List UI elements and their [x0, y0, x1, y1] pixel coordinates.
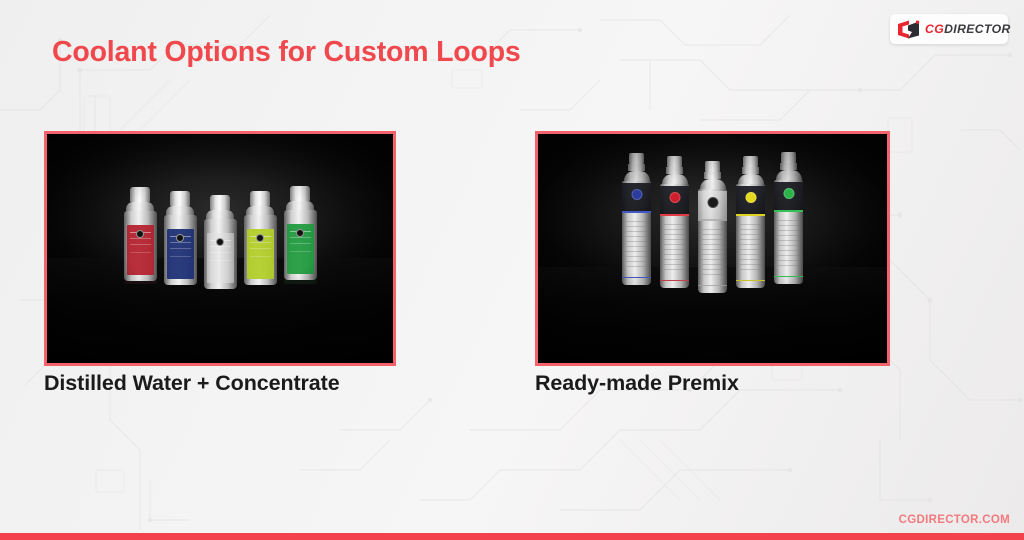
caption-concentrate: Distilled Water + Concentrate	[44, 371, 340, 396]
bottom-accent-bar	[0, 533, 1024, 540]
image-card-premix[interactable]	[535, 131, 890, 366]
bottle-concentrate-clear	[204, 195, 237, 289]
bottle-premix-yellow	[736, 156, 765, 288]
footer-watermark: CGDIRECTOR.COM	[899, 514, 1010, 526]
bottle-premix-blue	[622, 153, 651, 285]
bottle-concentrate-lime-green	[244, 191, 277, 285]
logo-text-director: DIRECTOR	[944, 22, 1011, 36]
bottle-concentrate-green	[284, 186, 317, 280]
slide: Coolant Options for Custom Loops CGDIREC…	[0, 0, 1024, 540]
photo-concentrate-bottles	[47, 134, 393, 363]
bottle-concentrate-red	[124, 187, 157, 281]
logo-text-cg: CG	[925, 22, 944, 36]
image-card-concentrate[interactable]	[44, 131, 396, 366]
cgdirector-logo-mark	[897, 20, 921, 39]
bottle-group-premix	[538, 152, 887, 289]
bottle-group-concentrate	[47, 186, 393, 285]
bottle-premix-clear	[698, 161, 727, 293]
bottle-concentrate-blue	[164, 191, 197, 285]
bottle-premix-red	[660, 156, 689, 288]
logo-wordmark: CGDIRECTOR	[925, 23, 1011, 35]
caption-premix: Ready-made Premix	[535, 371, 739, 396]
cgdirector-logo[interactable]: CGDIRECTOR	[890, 14, 1008, 44]
photo-premix-bottles	[538, 134, 887, 363]
bottle-premix-green	[774, 152, 803, 284]
page-title: Coolant Options for Custom Loops	[52, 36, 521, 69]
